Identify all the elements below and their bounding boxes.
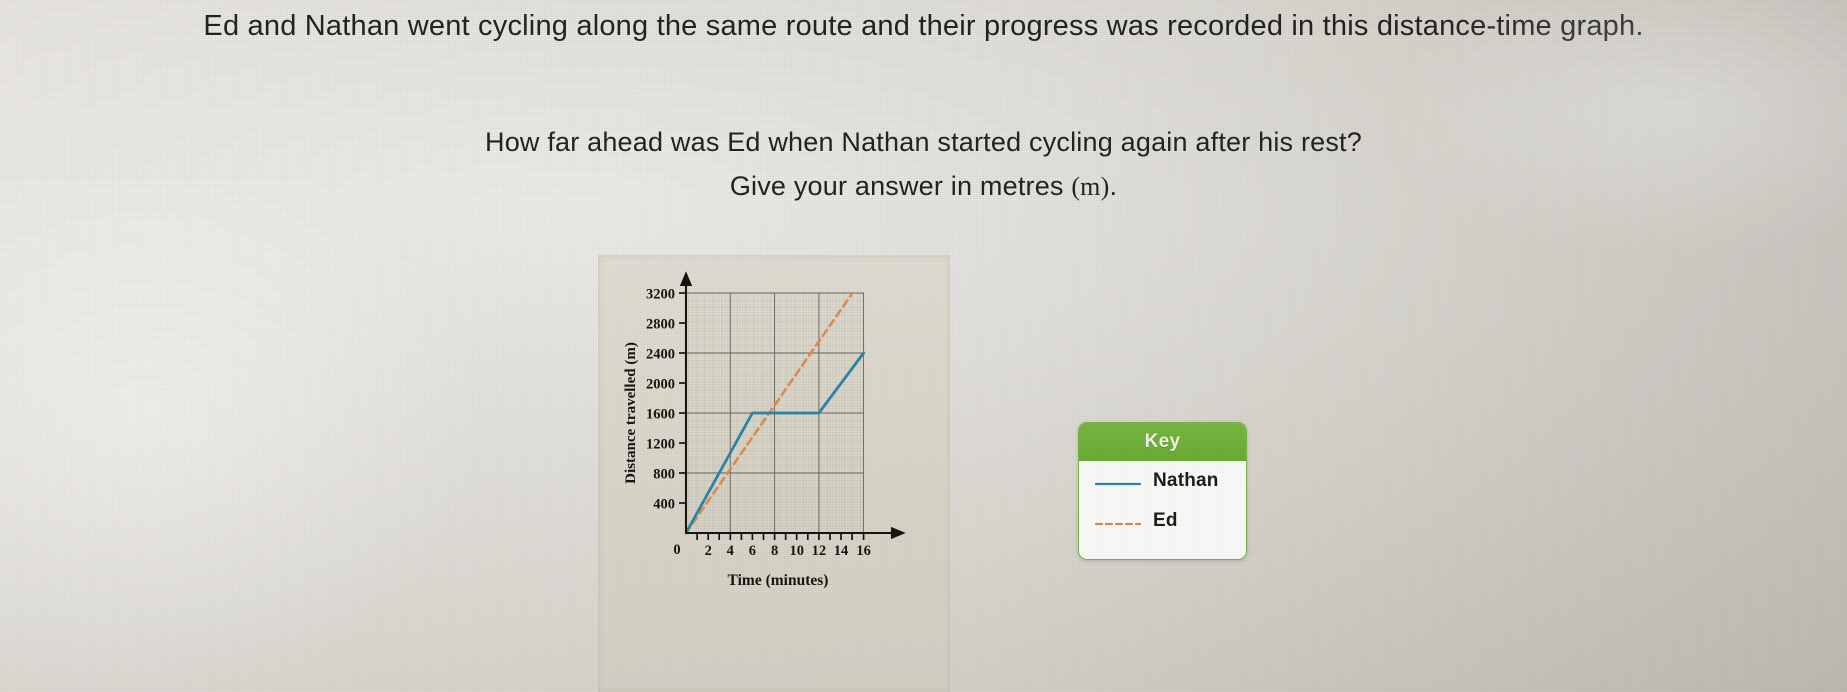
key-item-nathan: Nathan [1079,461,1246,501]
x-tick-label: 2 [705,543,712,559]
question-line-3: Give your answer in metres (m). [0,164,1847,209]
x-tick-label: 6 [749,543,756,559]
key-item-ed: Ed [1079,501,1246,541]
question-line-2: How far ahead was Ed when Nathan started… [0,120,1847,164]
origin-label-group: 0 [673,542,680,558]
x-tick-label: 8 [771,543,778,559]
key-item-label: Nathan [1153,470,1219,492]
y-tick-labels: 3200 2800 2400 2000 1600 1200 800 400 [646,287,675,513]
graph-svg: 3200 2800 2400 2000 1600 1200 800 400 0 … [598,255,950,692]
y-tick-label: 2400 [646,347,675,363]
answer-unit-suffix: . [1109,171,1117,201]
plot-area: 3200 2800 2400 2000 1600 1200 800 400 0 … [598,255,950,692]
y-tick-label: 1600 [646,407,675,423]
y-tick-label: 1200 [646,437,675,453]
x-axis-title: Time (minutes) [728,572,829,589]
answer-unit: (m) [1071,172,1109,201]
x-tick-labels: 2 4 6 8 10 12 14 16 [705,543,871,559]
key-item-label: Ed [1153,510,1178,532]
screen-glare [0,180,480,692]
line-swatch-dashed-icon [1095,516,1141,526]
distance-time-graph-figure: 3200 2800 2400 2000 1600 1200 800 400 0 … [598,255,950,692]
y-tick-label: 400 [653,497,675,513]
x-tick-label: 4 [727,543,734,559]
screen: Ed and Nathan went cycling along the sam… [0,0,1847,692]
origin-label: 0 [673,542,680,558]
x-tick-label: 14 [834,543,849,559]
line-swatch-solid-icon [1095,476,1141,486]
question-line-1: Ed and Nathan went cycling along the sam… [0,4,1847,48]
y-tick-label: 800 [653,467,675,483]
x-tick-label: 16 [856,543,871,559]
answer-unit-prefix: Give your answer in metres [730,171,1072,201]
y-tick-label: 2800 [646,317,675,333]
x-tick-label: 10 [789,543,804,559]
key-legend-box: Key Nathan Ed [1078,422,1247,560]
y-axis-title: Distance travelled (m) [623,342,639,484]
y-tick-label: 2000 [646,377,675,393]
x-tick-label: 12 [812,543,827,559]
key-title: Key [1079,423,1246,461]
y-tick-label: 3200 [646,287,675,303]
